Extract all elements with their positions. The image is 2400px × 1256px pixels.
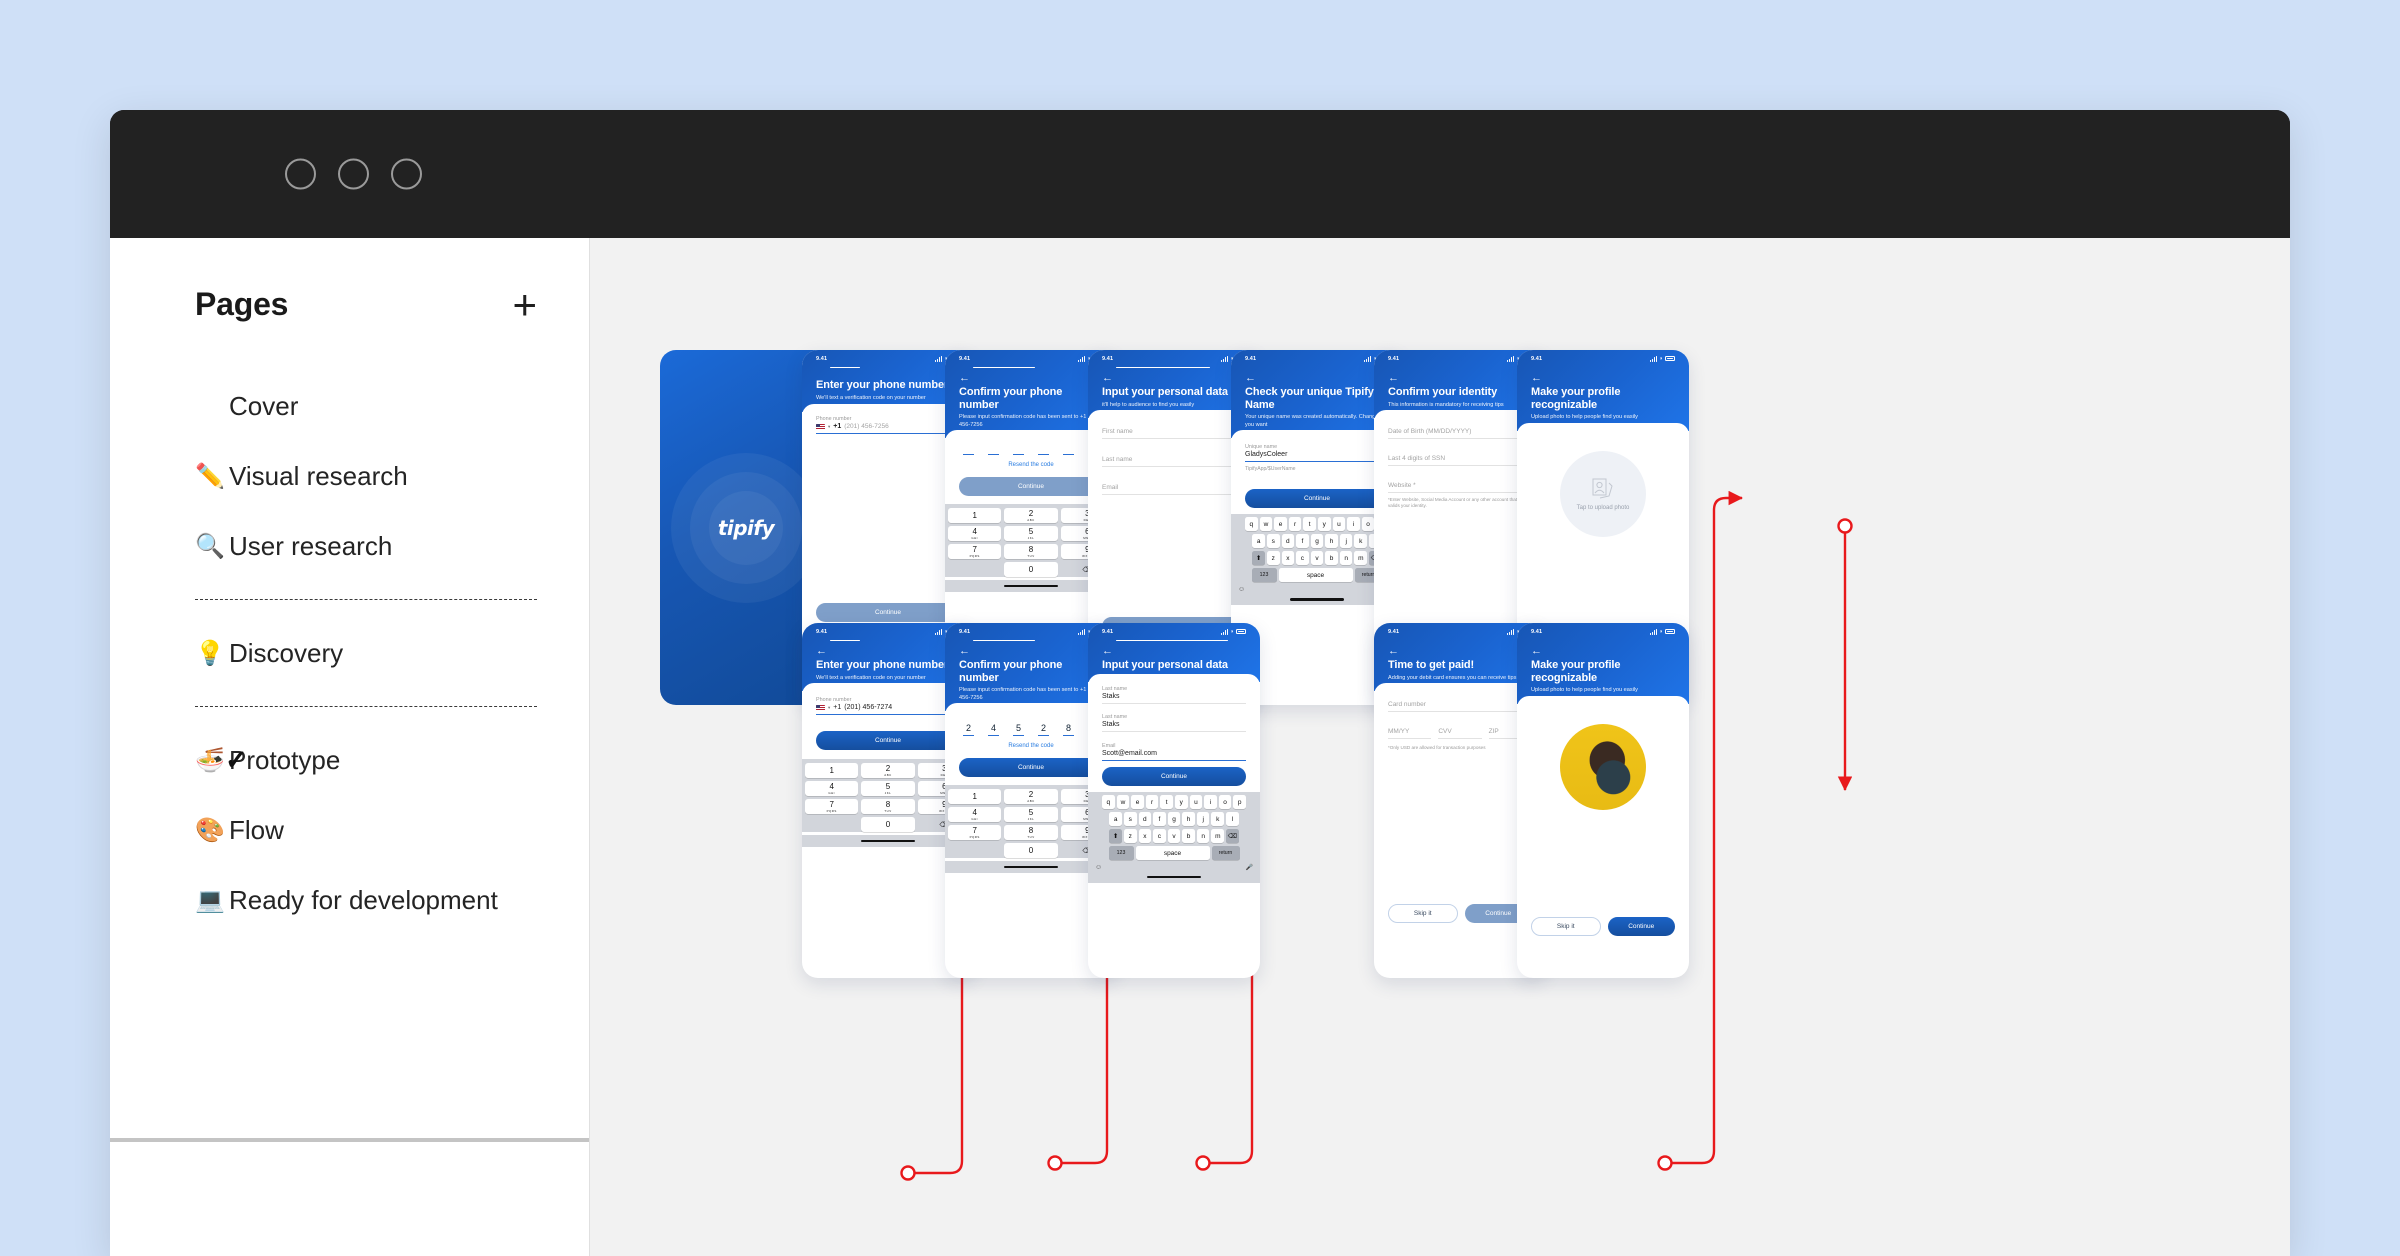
status-icons: ◗ <box>1221 629 1246 635</box>
emoji-icon[interactable]: ☺ <box>1095 864 1102 871</box>
sidebar-separator <box>110 1138 589 1142</box>
website-field[interactable]: Website * <box>1388 482 1532 493</box>
field-placeholder: MM/YY <box>1388 728 1431 735</box>
key-5[interactable]: 5JKL <box>1004 807 1057 822</box>
status-time: 9.41 <box>1531 356 1542 362</box>
signal-icon <box>1507 629 1514 635</box>
pencil-icon: ✏️ <box>195 462 229 491</box>
chevron-down-icon[interactable]: ▾ <box>828 705 830 711</box>
window-controls <box>285 159 422 190</box>
field-placeholder: First name <box>1102 428 1246 435</box>
key-e[interactable]: e <box>1131 795 1144 809</box>
signal-icon <box>1221 356 1228 362</box>
key-t[interactable]: t <box>1160 795 1173 809</box>
status-bar: 9.41 ◗ <box>1531 623 1675 640</box>
key-z[interactable]: z <box>1124 829 1137 843</box>
key-z[interactable]: z <box>1267 551 1280 565</box>
last-name-field[interactable]: Last name <box>1102 456 1246 467</box>
signal-icon <box>1650 356 1657 362</box>
field-underline <box>1388 438 1532 439</box>
keyboard-row-3: ⬆ z x c v b n m ⌫ <box>1090 829 1258 843</box>
sidebar-item-user-research[interactable]: 🔍 User research <box>110 511 589 581</box>
field-value: Scott@email.com <box>1102 750 1246 757</box>
status-time: 9.41 <box>1388 356 1399 362</box>
key-o[interactable]: o <box>1362 517 1375 531</box>
avatar[interactable] <box>1560 724 1646 810</box>
screen-subtitle: Upload photo to help people find you eas… <box>1531 414 1675 422</box>
last-name-field[interactable]: Last name Staks <box>1102 714 1246 732</box>
country-code: +1 <box>833 704 841 711</box>
key-space[interactable]: space <box>1279 568 1353 582</box>
battery-icon <box>1665 356 1675 361</box>
first-name-field[interactable]: Last name Staks <box>1102 686 1246 704</box>
magnifier-icon: 🔍 <box>195 532 229 561</box>
sidebar-item-ready-for-development[interactable]: 💻 Ready for development <box>110 865 589 935</box>
key-0[interactable]: 0 <box>1004 562 1057 577</box>
field-placeholder: Email <box>1102 484 1246 491</box>
expiry-field[interactable]: MM/YY <box>1388 728 1431 739</box>
key-n[interactable]: n <box>1197 829 1210 843</box>
key-p[interactable]: p <box>1233 795 1246 809</box>
key-s[interactable]: s <box>1267 534 1280 548</box>
unique-name-field[interactable]: Unique name 👁 GladysColeer <box>1245 444 1389 462</box>
status-bar: 9.41 ◗ <box>816 350 960 367</box>
code-digit[interactable]: 8 <box>1063 723 1074 736</box>
keyboard-row-2: a s d f g h j k l <box>1090 812 1258 826</box>
field-underline <box>1245 461 1389 462</box>
sidebar-divider-2 <box>195 706 537 707</box>
field-underline <box>1388 465 1532 466</box>
screen-title: Enter your phone number <box>816 379 960 392</box>
key-o[interactable]: o <box>1219 795 1232 809</box>
resend-code-link[interactable]: Resend the code <box>959 743 1103 749</box>
frame-profile-photo-set[interactable]: 9.41 ◗ ← Make your profile recognizable … <box>1517 623 1689 978</box>
key-numeric-toggle[interactable]: 123 <box>1252 568 1277 582</box>
code-digit[interactable] <box>1013 452 1024 455</box>
us-flag-icon <box>816 424 825 430</box>
back-arrow-icon[interactable]: ← <box>1531 373 1675 384</box>
sidebar-item-cover[interactable]: Cover <box>110 371 589 441</box>
back-arrow-icon[interactable]: ← <box>959 646 1103 657</box>
status-bar: 9.41 ◗ <box>1102 350 1246 367</box>
screen-subtitle: Upload photo to help people find you eas… <box>1531 687 1675 695</box>
pages-sidebar: Pages + Cover ✏️ Visual research 🔍 User … <box>110 238 590 1256</box>
code-digit[interactable]: 5 <box>1013 723 1024 736</box>
continue-button[interactable]: Continue <box>959 477 1103 496</box>
status-time: 9.41 <box>1531 629 1542 635</box>
close-dot-icon[interactable] <box>285 159 316 190</box>
status-bar: 9.41 ◗ <box>1388 350 1532 367</box>
key-w[interactable]: w <box>1260 517 1273 531</box>
first-name-field[interactable]: First name <box>1102 428 1246 439</box>
key-a[interactable]: a <box>1252 534 1265 548</box>
key-l[interactable]: l <box>1226 812 1239 826</box>
sidebar-divider-1 <box>195 599 537 600</box>
progress-indicator <box>830 640 860 641</box>
field-label: Last name <box>1102 714 1246 720</box>
key-r[interactable]: r <box>1289 517 1302 531</box>
code-digit[interactable] <box>1038 452 1049 455</box>
key-n[interactable]: n <box>1340 551 1353 565</box>
screen-title: Time to get paid! <box>1388 659 1532 672</box>
wifi-icon: ◗ <box>1659 356 1663 362</box>
status-bar: 9.41 ◗ <box>1531 350 1675 367</box>
key-g[interactable]: g <box>1168 812 1181 826</box>
back-arrow-icon[interactable]: ← <box>959 373 1103 384</box>
continue-button[interactable]: Continue <box>816 603 960 622</box>
code-input[interactable] <box>959 446 1103 455</box>
back-arrow-icon[interactable]: ← <box>1388 373 1532 384</box>
code-digit[interactable]: 2 <box>1038 723 1049 736</box>
key-m[interactable]: m <box>1211 829 1224 843</box>
key-u[interactable]: u <box>1190 795 1203 809</box>
code-digit[interactable] <box>988 452 999 455</box>
palette-icon: 🎨 <box>195 816 229 845</box>
field-underline <box>1102 494 1246 495</box>
key-v[interactable]: v <box>1168 829 1181 843</box>
status-time: 9.41 <box>959 629 970 635</box>
key-8[interactable]: 8TUV <box>861 799 914 814</box>
screen-title: Confirm your phone number <box>959 386 1103 411</box>
app-window: Pages + Cover ✏️ Visual research 🔍 User … <box>110 110 2290 1256</box>
field-underline <box>1102 703 1246 704</box>
phone-input-row[interactable]: ▾ +1 (201) 456-7256 <box>816 423 960 430</box>
key-d[interactable]: d <box>1139 812 1152 826</box>
key-c[interactable]: c <box>1153 829 1166 843</box>
key-x[interactable]: x <box>1282 551 1295 565</box>
field-placeholder: CVV <box>1438 728 1481 735</box>
field-underline <box>1102 731 1246 732</box>
screen-subtitle: We'll text a verification code on your n… <box>816 395 960 403</box>
key-blank <box>805 817 858 832</box>
field-underline <box>1388 738 1431 739</box>
back-arrow-icon[interactable]: ← <box>1102 646 1246 657</box>
screen-title: Input your personal data <box>1102 659 1246 672</box>
maximize-dot-icon[interactable] <box>391 159 422 190</box>
key-4[interactable]: 4GHI <box>948 807 1001 822</box>
status-bar: 9.41 ◗ <box>959 623 1103 640</box>
key-m[interactable]: m <box>1354 551 1367 565</box>
key-1[interactable]: 1 <box>805 763 858 778</box>
key-j[interactable]: j <box>1197 812 1210 826</box>
key-c[interactable]: c <box>1296 551 1309 565</box>
signal-icon <box>1507 356 1514 362</box>
screen-header: 9.41 ◗ ← Input your personal data <box>1088 623 1260 682</box>
key-k[interactable]: k <box>1354 534 1367 548</box>
key-q[interactable]: q <box>1245 517 1258 531</box>
sidebar-item-discovery[interactable]: 💡 Discovery <box>110 618 589 688</box>
key-e[interactable]: e <box>1274 517 1287 531</box>
status-bar: 9.41 ◗ <box>1245 350 1389 367</box>
window-titlebar <box>110 110 2290 238</box>
status-time: 9.41 <box>959 356 970 362</box>
page-title: Pages <box>195 286 288 323</box>
key-y[interactable]: y <box>1318 517 1331 531</box>
key-7[interactable]: 7PQRS <box>948 825 1001 840</box>
key-7[interactable]: 7PQRS <box>948 544 1001 559</box>
key-a[interactable]: a <box>1109 812 1122 826</box>
resend-code-link[interactable]: Resend the code <box>959 462 1103 468</box>
key-h[interactable]: h <box>1325 534 1338 548</box>
card-number-field[interactable]: Card number <box>1388 701 1532 712</box>
key-2[interactable]: 2ABC <box>1004 789 1057 804</box>
key-1[interactable]: 1 <box>948 789 1001 804</box>
field-underline <box>1102 438 1246 439</box>
phone-input-row[interactable]: ▾ +1 (201) 456-7274 <box>816 704 960 711</box>
key-j[interactable]: j <box>1340 534 1353 548</box>
phone-value: (201) 456-7274 <box>844 704 892 711</box>
sidebar-item-flow[interactable]: 🎨 Flow <box>110 795 589 865</box>
sidebar-item-label: Discovery <box>229 638 343 669</box>
key-b[interactable]: b <box>1325 551 1338 565</box>
key-5[interactable]: 5JKL <box>861 781 914 796</box>
skip-button[interactable]: Skip it <box>1388 904 1458 923</box>
field-placeholder: Last name <box>1102 456 1246 463</box>
cvv-field[interactable]: CVV <box>1438 728 1481 739</box>
field-underline <box>1388 492 1532 493</box>
code-digit[interactable]: 2 <box>963 723 974 736</box>
key-4[interactable]: 4GHI <box>948 526 1001 541</box>
field-placeholder: Card number <box>1388 701 1532 708</box>
signal-icon <box>1221 629 1228 635</box>
status-time: 9.41 <box>1388 629 1399 635</box>
sidebar-item-label: Cover <box>229 391 298 422</box>
key-1[interactable]: 1 <box>948 508 1001 523</box>
field-label: Email <box>1102 743 1246 749</box>
signal-icon <box>1078 629 1085 635</box>
key-8[interactable]: 8TUV <box>1004 825 1057 840</box>
back-arrow-icon[interactable]: ← <box>1245 373 1389 384</box>
window-body: Pages + Cover ✏️ Visual research 🔍 User … <box>110 238 2290 1256</box>
progress-indicator <box>973 640 1035 641</box>
card-detail-row: MM/YY CVV ZIP <box>1388 728 1532 743</box>
ssn-field[interactable]: Last 4 digits of SSN <box>1388 455 1532 466</box>
key-w[interactable]: w <box>1117 795 1130 809</box>
field-placeholder: Date of Birth (MM/DD/YYYY) <box>1388 428 1471 435</box>
unique-name-hint: TipifyApp/$UserName <box>1245 466 1389 473</box>
back-arrow-icon[interactable]: ← <box>1102 373 1246 384</box>
sidebar-item-label: Visual research <box>229 461 408 492</box>
dob-field[interactable]: 🗓 Date of Birth (MM/DD/YYYY) <box>1388 428 1532 439</box>
continue-button[interactable]: Continue <box>1245 489 1389 508</box>
progress-indicator <box>1116 367 1210 368</box>
status-time: 9.41 <box>816 629 827 635</box>
field-underline <box>1438 738 1481 739</box>
screen-subtitle: This information is mandatory for receiv… <box>1388 402 1532 410</box>
key-k[interactable]: k <box>1211 812 1224 826</box>
frame-personal-data-filled[interactable]: 9.41 ◗ ← Input your personal data Last n… <box>1088 623 1260 978</box>
unique-name-value: GladysColeer <box>1245 451 1287 458</box>
field-label: Last name <box>1102 686 1246 692</box>
keyboard-utility-row: ☺ 🎤 <box>1090 863 1258 871</box>
shift-icon[interactable]: ⬆ <box>1252 551 1265 565</box>
phone-value: (201) 456-7256 <box>844 423 888 430</box>
photo-upload-placeholder[interactable]: Tap to upload photo <box>1560 451 1646 537</box>
skip-button[interactable]: Skip it <box>1531 917 1601 936</box>
key-2[interactable]: 2ABC <box>861 763 914 778</box>
screen-subtitle: Please input confirmation code has been … <box>959 687 1103 702</box>
status-bar: 9.41 ◗ <box>959 350 1103 367</box>
code-digit[interactable]: 4 <box>988 723 999 736</box>
key-0[interactable]: 0 <box>861 817 914 832</box>
status-time: 9.41 <box>816 356 827 362</box>
field-underline <box>1102 760 1246 761</box>
field-underline <box>1102 466 1246 467</box>
status-time: 9.41 <box>1245 356 1256 362</box>
key-8[interactable]: 8TUV <box>1004 544 1057 559</box>
key-7[interactable]: 7PQRS <box>805 799 858 814</box>
code-digit[interactable] <box>1063 452 1074 455</box>
key-t[interactable]: t <box>1303 517 1316 531</box>
screen-sheet: Skip it Continue <box>1517 696 1689 958</box>
key-4[interactable]: 4GHI <box>805 781 858 796</box>
minimize-dot-icon[interactable] <box>338 159 369 190</box>
back-arrow-icon[interactable]: ← <box>816 646 960 657</box>
code-digit[interactable] <box>963 452 974 455</box>
signal-icon <box>935 356 942 362</box>
screen-title: Check your unique Tipify Name <box>1245 386 1389 411</box>
status-bar: 9.41 ◗ <box>816 623 960 640</box>
pages-header: Pages + <box>110 238 589 323</box>
key-y[interactable]: y <box>1175 795 1188 809</box>
screen-sheet: Last name Staks Last name Staks Email Sc… <box>1088 674 1260 787</box>
laptop-icon: 💻 <box>195 886 229 915</box>
back-arrow-icon[interactable]: ← <box>1388 646 1532 657</box>
screen-subtitle: Your unique name was created automatical… <box>1245 414 1389 429</box>
key-u[interactable]: u <box>1333 517 1346 531</box>
code-input[interactable]: 2 4 5 2 8 0 <box>959 717 1103 736</box>
field-label: Phone number <box>816 697 960 703</box>
signal-icon <box>1078 356 1085 362</box>
screen-header: 9.41 ◗ ← Make your profile recognizable … <box>1517 350 1689 431</box>
signal-icon <box>1650 629 1657 635</box>
field-underline <box>816 433 960 434</box>
screen-title: Enter your phone number <box>816 659 960 672</box>
progress-indicator <box>973 367 1035 368</box>
us-flag-icon <box>816 705 825 711</box>
field-placeholder: Last 4 digits of SSN <box>1388 455 1532 462</box>
email-field[interactable]: Email <box>1102 484 1246 495</box>
upload-label: Tap to upload photo <box>1577 505 1630 511</box>
action-row: Skip it Continue <box>1388 904 1532 923</box>
battery-icon <box>1665 629 1675 634</box>
continue-button[interactable]: Continue <box>1102 767 1246 786</box>
key-d[interactable]: d <box>1282 534 1295 548</box>
key-5[interactable]: 5JKL <box>1004 526 1057 541</box>
continue-button[interactable]: Continue <box>816 731 960 750</box>
status-bar: 9.41 ◗ <box>1388 623 1532 640</box>
sidebar-item-prototype[interactable]: ✓ 🍜 Prototype <box>110 725 589 795</box>
field-value: Staks <box>1102 693 1246 700</box>
key-s[interactable]: s <box>1124 812 1137 826</box>
signal-icon <box>935 629 942 635</box>
design-canvas[interactable]: tipify 9.41 ◗ Enter your phone <box>590 238 2290 1256</box>
key-space[interactable]: space <box>1136 846 1210 860</box>
screen-title: Confirm your identity <box>1388 386 1532 399</box>
continue-button[interactable]: Continue <box>1608 917 1676 936</box>
back-arrow-icon[interactable]: ← <box>1531 646 1675 657</box>
signal-icon <box>1364 356 1371 362</box>
status-icons: ◗ <box>1650 629 1675 635</box>
key-return[interactable]: return <box>1212 846 1240 860</box>
status-bar: 9.41 ◗ <box>1102 623 1246 640</box>
unique-name-row[interactable]: 👁 GladysColeer <box>1245 451 1389 458</box>
field-label: Phone number <box>816 416 960 422</box>
check-icon: ✓ <box>225 745 248 776</box>
screen-title: Make your profile recognizable <box>1531 386 1675 411</box>
key-blank <box>948 843 1001 858</box>
sidebar-item-label: Ready for development <box>229 885 498 916</box>
dob-row[interactable]: 🗓 Date of Birth (MM/DD/YYYY) <box>1388 428 1532 435</box>
key-f[interactable]: f <box>1296 534 1309 548</box>
sidebar-item-visual-research[interactable]: ✏️ Visual research <box>110 441 589 511</box>
card-note: *Only USD are allowed for transaction pu… <box>1388 745 1532 751</box>
screen-title: Confirm your phone number <box>959 659 1103 684</box>
key-i[interactable]: i <box>1204 795 1217 809</box>
screen-title: Input your personal data <box>1102 386 1246 399</box>
phone-number-field[interactable]: Phone number ▾ +1 (201) 456-7256 <box>816 416 960 434</box>
screen-subtitle: Please input confirmation code has been … <box>959 414 1103 429</box>
field-value: Staks <box>1102 721 1246 728</box>
qwerty-keyboard[interactable]: q w e r t y u i o p a s d <box>1088 792 1260 883</box>
status-time: 9.41 <box>1102 356 1113 362</box>
phone-number-field[interactable]: Phone number ▾ +1 (201) 456-7274 <box>816 697 960 715</box>
key-v[interactable]: v <box>1311 551 1324 565</box>
sidebar-item-label: Flow <box>229 815 284 846</box>
action-row: Skip it Continue <box>1531 917 1675 936</box>
key-2[interactable]: 2ABC <box>1004 508 1057 523</box>
key-b[interactable]: b <box>1182 829 1195 843</box>
key-f[interactable]: f <box>1153 812 1166 826</box>
home-indicator <box>1090 871 1258 883</box>
backspace-icon[interactable]: ⌫ <box>1226 829 1239 843</box>
key-i[interactable]: i <box>1347 517 1360 531</box>
key-q[interactable]: q <box>1102 795 1115 809</box>
pages-list: Cover ✏️ Visual research 🔍 User research… <box>110 323 589 935</box>
field-label: Unique name <box>1245 444 1389 450</box>
photo-placeholder-icon <box>1590 477 1616 501</box>
key-blank <box>948 562 1001 577</box>
wifi-icon: ◗ <box>1659 629 1663 635</box>
sidebar-item-label: User research <box>229 531 392 562</box>
microphone-icon[interactable]: 🎤 <box>1246 864 1253 871</box>
email-field[interactable]: Email Scott@email.com <box>1102 743 1246 761</box>
key-x[interactable]: x <box>1139 829 1152 843</box>
field-underline <box>1388 711 1532 712</box>
chevron-down-icon[interactable]: ▾ <box>828 424 830 430</box>
key-r[interactable]: r <box>1146 795 1159 809</box>
key-0[interactable]: 0 <box>1004 843 1057 858</box>
battery-icon <box>1236 629 1246 634</box>
wifi-icon: ◗ <box>1230 629 1234 635</box>
screen-title: Make your profile recognizable <box>1531 659 1675 684</box>
add-page-icon[interactable]: + <box>512 289 537 321</box>
keyboard-row-1: q w e r t y u i o p <box>1090 795 1258 809</box>
continue-button[interactable]: Continue <box>959 758 1103 777</box>
country-code: +1 <box>833 423 841 430</box>
identity-note: *Enter Website, Social Media Account or … <box>1388 497 1532 509</box>
field-placeholder: Website * <box>1388 482 1532 489</box>
status-icons: ◗ <box>1650 356 1675 362</box>
screen-subtitle: Adding your debit card ensures you can r… <box>1388 675 1532 683</box>
key-g[interactable]: g <box>1311 534 1324 548</box>
shift-icon[interactable]: ⬆ <box>1109 829 1122 843</box>
lightbulb-icon: 💡 <box>195 639 229 668</box>
status-time: 9.41 <box>1102 629 1113 635</box>
emoji-icon[interactable]: ☺ <box>1238 586 1245 593</box>
key-numeric-toggle[interactable]: 123 <box>1109 846 1134 860</box>
key-h[interactable]: h <box>1182 812 1195 826</box>
